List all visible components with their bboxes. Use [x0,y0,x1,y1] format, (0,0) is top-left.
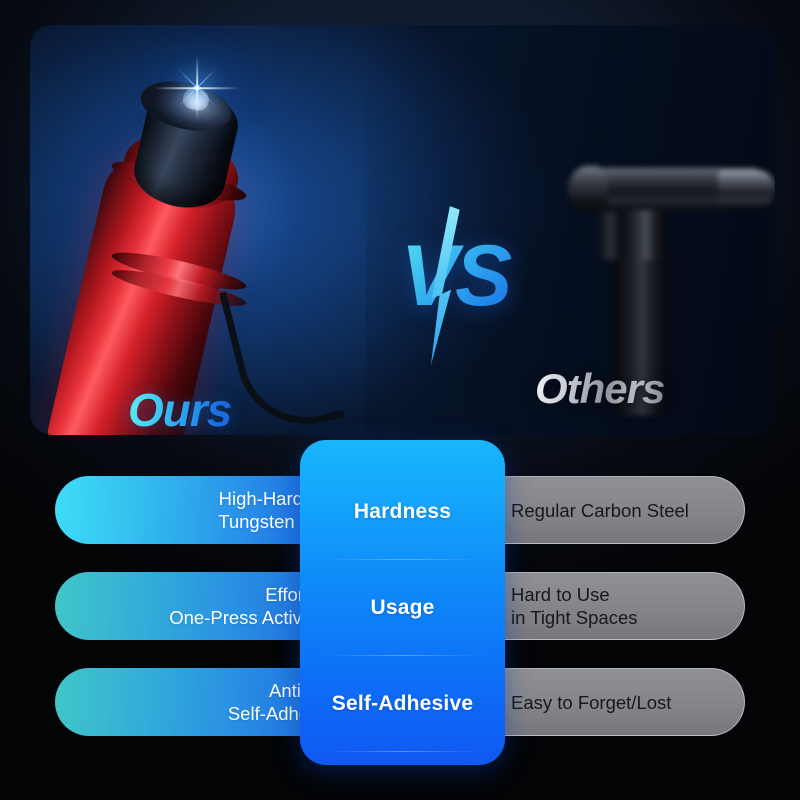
feature-item-usage: Usage [300,560,505,656]
others-text-line-1: Hard to Use [511,583,638,606]
others-text-line-1: Regular Carbon Steel [511,499,689,522]
others-pill-text: Regular Carbon Steel [511,499,689,522]
others-pill-text: Hard to Use in Tight Spaces [511,583,638,629]
feature-item-self-adhesive: Self-Adhesive [300,656,505,752]
others-text-line-1: Easy to Forget/Lost [511,691,671,714]
feature-label: Usage [370,596,434,620]
feature-label: Self-Adhesive [332,692,473,716]
feature-item-hardness: Hardness [300,464,505,560]
others-text-line-2: in Tight Spaces [511,606,638,629]
feature-label: Hardness [354,500,451,524]
feature-divider [324,751,481,752]
feature-center-card: Hardness Usage Self-Adhesive [300,440,505,765]
others-pill-text: Easy to Forget/Lost [511,691,671,714]
